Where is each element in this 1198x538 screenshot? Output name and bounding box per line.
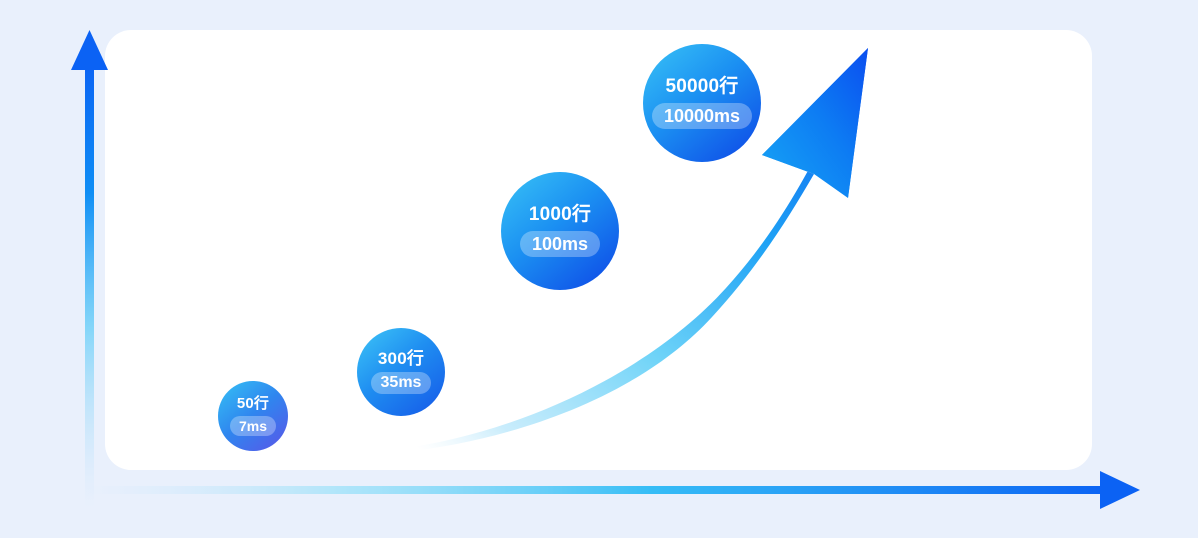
bubble-title: 50行 [237, 396, 269, 412]
x-axis-arrow [85, 471, 1140, 509]
chart-canvas: 50行 7ms 300行 35ms 1000行 100ms 50000行 100… [0, 0, 1198, 538]
growth-curve-arrow [399, 48, 868, 452]
bubble-title: 1000行 [529, 205, 591, 225]
data-bubble-1000-rows[interactable]: 1000行 100ms [501, 172, 619, 290]
y-axis-arrow [71, 30, 108, 508]
bubble-badge: 7ms [230, 416, 276, 436]
data-bubble-50-rows[interactable]: 50行 7ms [218, 381, 288, 451]
data-bubble-300-rows[interactable]: 300行 35ms [357, 328, 445, 416]
bubble-badge: 35ms [371, 372, 432, 394]
bubble-badge: 100ms [520, 231, 600, 257]
data-bubble-50000-rows[interactable]: 50000行 10000ms [643, 44, 761, 162]
bubble-badge: 10000ms [652, 103, 752, 129]
bubble-title: 50000行 [665, 77, 738, 97]
bubble-title: 300行 [378, 350, 424, 368]
